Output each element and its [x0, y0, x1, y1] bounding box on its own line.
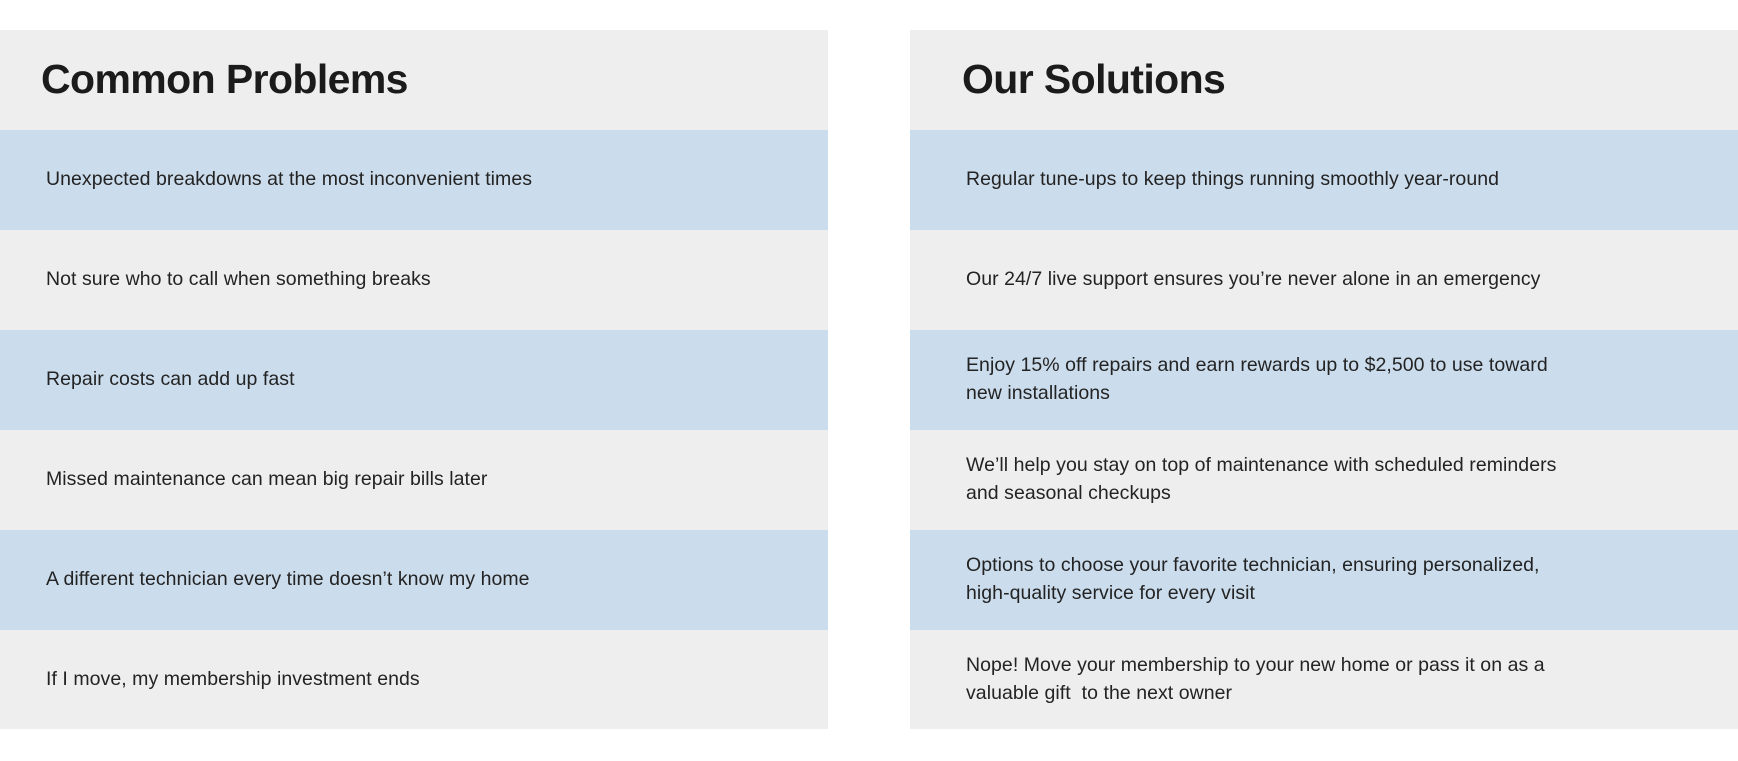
problems-row-list: Unexpected breakdowns at the most inconv… — [0, 130, 828, 729]
row-text: Nope! Move your membership to your new h… — [966, 652, 1545, 707]
row-text: If I move, my membership investment ends — [46, 666, 420, 694]
table-row: Enjoy 15% off repairs and earn rewards u… — [910, 330, 1738, 430]
row-text: Enjoy 15% off repairs and earn rewards u… — [966, 352, 1548, 407]
solutions-row-list: Regular tune-ups to keep things running … — [910, 130, 1738, 729]
problems-column-header: Common Problems — [0, 30, 828, 130]
table-row: Nope! Move your membership to your new h… — [910, 630, 1738, 729]
table-row: Options to choose your favorite technici… — [910, 530, 1738, 630]
row-text: Missed maintenance can mean big repair b… — [46, 466, 487, 494]
table-row: If I move, my membership investment ends — [0, 630, 828, 729]
table-row: Regular tune-ups to keep things running … — [910, 130, 1738, 230]
row-text: Not sure who to call when something brea… — [46, 266, 431, 294]
table-row: Our 24/7 live support ensures you’re nev… — [910, 230, 1738, 330]
table-row: Unexpected breakdowns at the most inconv… — [0, 130, 828, 230]
solutions-column: Our Solutions Regular tune-ups to keep t… — [910, 30, 1738, 729]
row-text: Our 24/7 live support ensures you’re nev… — [966, 266, 1540, 294]
row-text: We’ll help you stay on top of maintenanc… — [966, 452, 1556, 507]
row-text: A different technician every time doesn’… — [46, 566, 530, 594]
problems-column-title: Common Problems — [41, 58, 408, 101]
comparison-table: Common Problems Unexpected breakdowns at… — [0, 0, 1738, 761]
row-text: Unexpected breakdowns at the most inconv… — [46, 166, 532, 194]
table-row: Missed maintenance can mean big repair b… — [0, 430, 828, 530]
solutions-column-title: Our Solutions — [962, 58, 1225, 101]
row-text: Repair costs can add up fast — [46, 366, 295, 394]
table-row: We’ll help you stay on top of maintenanc… — [910, 430, 1738, 530]
problems-column: Common Problems Unexpected breakdowns at… — [0, 30, 828, 729]
row-text: Options to choose your favorite technici… — [966, 552, 1539, 607]
row-text: Regular tune-ups to keep things running … — [966, 166, 1499, 194]
solutions-column-header: Our Solutions — [910, 30, 1738, 130]
table-row: A different technician every time doesn’… — [0, 530, 828, 630]
table-row: Repair costs can add up fast — [0, 330, 828, 430]
table-row: Not sure who to call when something brea… — [0, 230, 828, 330]
